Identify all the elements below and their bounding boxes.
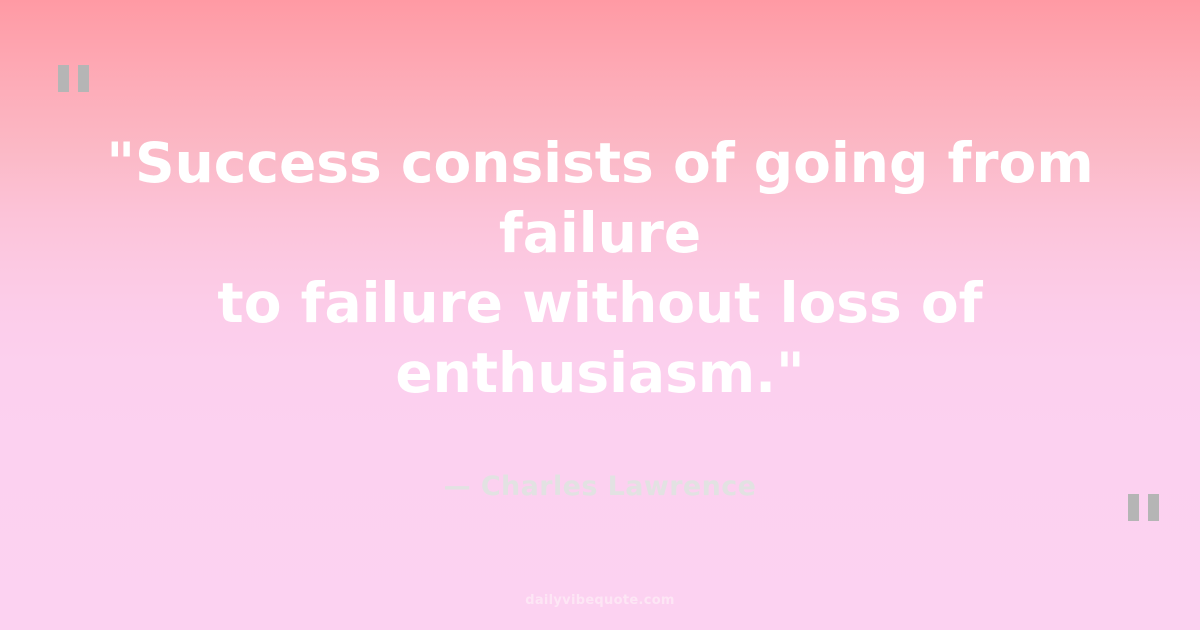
footer-watermark: dailyvibequote.com [0, 593, 1200, 608]
quote-text: "Success consists of going from failure … [58, 128, 1143, 408]
quote-bar-left [1128, 494, 1139, 521]
quote-content: "Success consists of going from failure … [0, 0, 1200, 630]
quote-card: "Success consists of going from failure … [0, 0, 1200, 630]
quote-close-icon [1128, 494, 1159, 521]
quote-author: — Charles Lawrence [444, 471, 757, 503]
quote-bar-right [1148, 494, 1159, 521]
